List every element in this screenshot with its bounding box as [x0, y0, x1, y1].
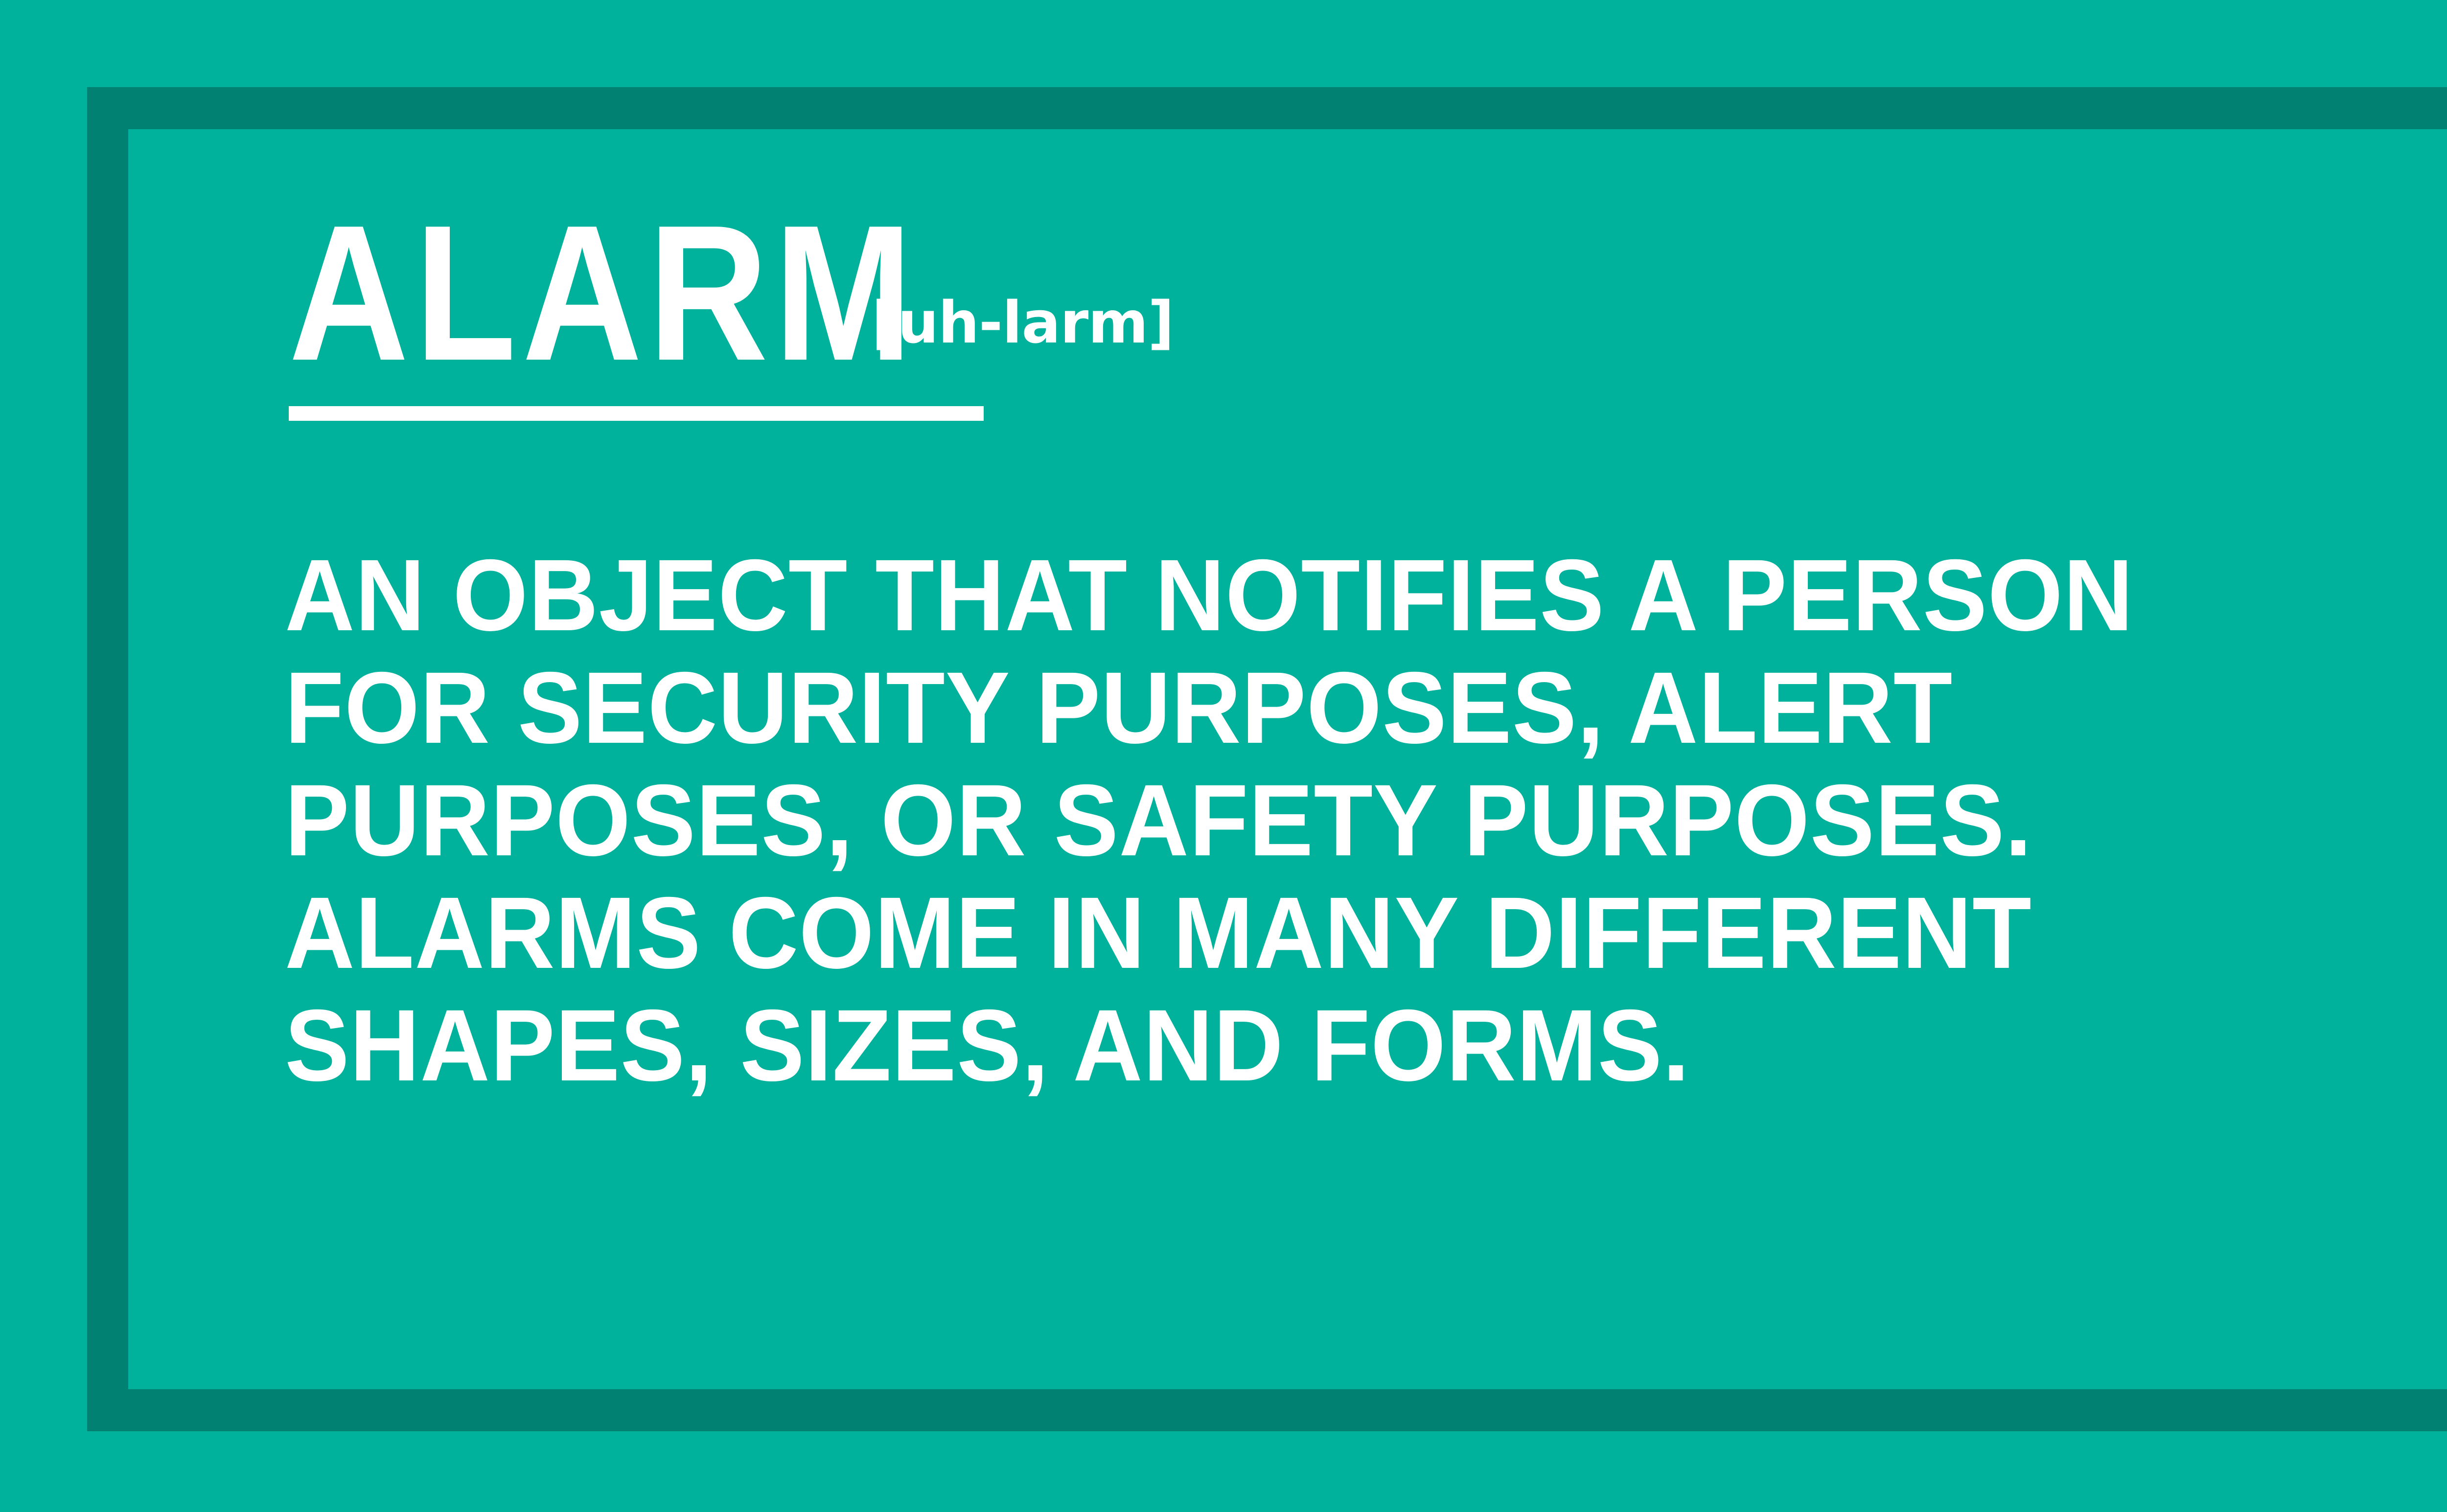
- definition-text-block: AN OBJECT THAT NOTIFIES A PERSON FOR SEC…: [285, 539, 2414, 1102]
- definition-line: FOR SECURITY PURPOSES, ALERT: [285, 652, 2308, 764]
- definition-line: SHAPES, SIZES, AND FORMS.: [285, 989, 2308, 1102]
- definition-line: PURPOSES, OR SAFETY PURPOSES.: [285, 764, 2308, 877]
- page-title: ALARM: [289, 217, 919, 368]
- card-outer-frame: ALARM [uh-larm] AN OBJECT THAT NOTIFIES …: [87, 87, 2447, 1431]
- definition-card: ALARM [uh-larm] AN OBJECT THAT NOTIFIES …: [0, 0, 2447, 1512]
- card-inner-panel: ALARM [uh-larm] AN OBJECT THAT NOTIFIES …: [128, 129, 2447, 1389]
- definition-line: ALARMS COME IN MANY DIFFERENT: [285, 877, 2308, 989]
- headword-row: ALARM [uh-larm]: [289, 217, 1174, 368]
- definition-line: AN OBJECT THAT NOTIFIES A PERSON: [285, 539, 2308, 652]
- headword-underline-rule: [289, 406, 984, 421]
